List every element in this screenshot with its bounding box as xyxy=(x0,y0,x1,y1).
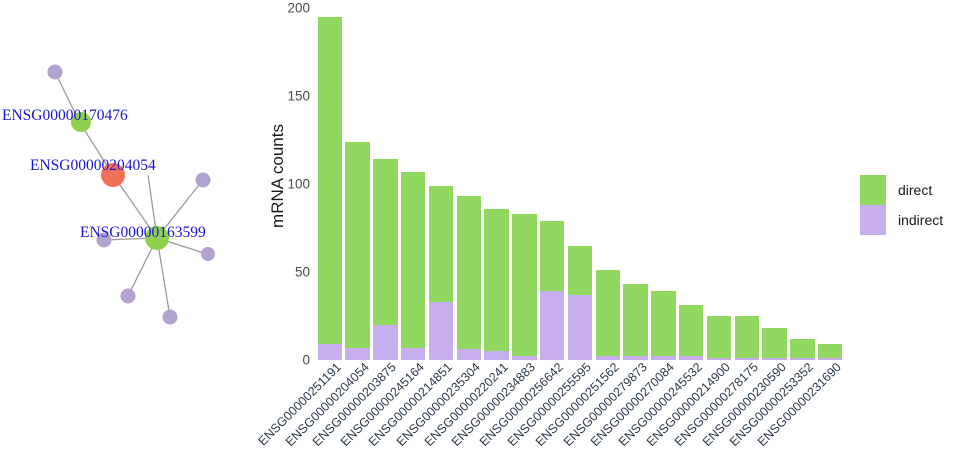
gene-network-panel: ENSG00000170476 ENSG00000204054 ENSG0000… xyxy=(0,0,260,360)
neighbor-node-right2[interactable] xyxy=(201,247,215,261)
node-label-163599: ENSG00000163599 xyxy=(80,224,206,241)
neighbor-node-top[interactable] xyxy=(48,65,63,80)
y-axis-tick-100: 100 xyxy=(287,177,310,192)
y-axis-tick-50: 50 xyxy=(295,265,310,280)
network-graph-svg: ENSG00000170476 ENSG00000204054 ENSG0000… xyxy=(0,0,260,360)
legend-item-direct[interactable]: direct xyxy=(860,175,977,205)
y-axis-tick-200: 200 xyxy=(287,1,310,16)
legend-swatch-direct xyxy=(860,175,886,205)
network-nodes xyxy=(48,65,216,325)
legend-swatch-indirect xyxy=(860,205,886,235)
y-axis-tick-150: 150 xyxy=(287,89,310,104)
node-label-204054: ENSG00000204054 xyxy=(30,157,156,174)
bar-segment-direct xyxy=(345,142,369,348)
bar-segment-direct xyxy=(318,17,342,344)
x-axis-ticks: ENSG00000251191ENSG00000204054ENSG000002… xyxy=(316,360,876,451)
bar-chart-panel: mRNA counts 050100150200 ENSG00000251191… xyxy=(260,0,860,451)
node-label-170476: ENSG00000170476 xyxy=(2,107,128,124)
y-axis-ticks: 050100150200 xyxy=(260,8,310,360)
bar-ENSG00000251191[interactable] xyxy=(318,17,342,360)
y-axis-tick-0: 0 xyxy=(302,353,310,368)
legend-item-indirect[interactable]: indirect xyxy=(860,205,977,235)
legend-label-indirect: indirect xyxy=(898,212,943,228)
neighbor-node-lower1[interactable] xyxy=(121,289,136,304)
legend-label-direct: direct xyxy=(898,182,932,198)
neighbor-node-right1[interactable] xyxy=(196,173,211,188)
neighbor-node-lower2[interactable] xyxy=(163,310,178,325)
edge-163599-to-n6 xyxy=(157,238,170,317)
legend: direct indirect xyxy=(860,175,977,240)
figure-root: ENSG00000170476 ENSG00000204054 ENSG0000… xyxy=(0,0,977,451)
